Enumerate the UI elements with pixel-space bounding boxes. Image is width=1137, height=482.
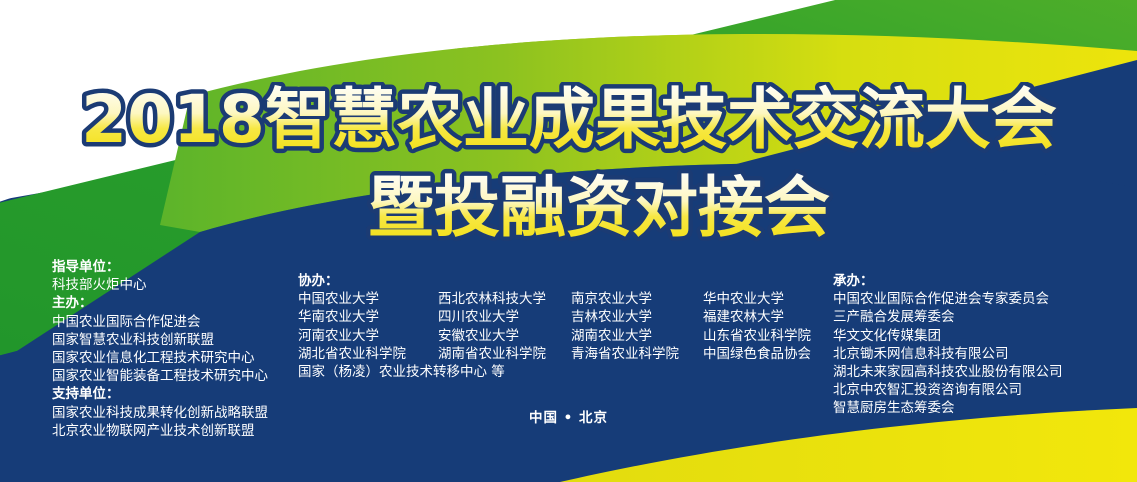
coorganizer-item: 湖南省农业科学院 (438, 345, 571, 363)
event-banner: 2018智慧农业成果技术交流大会 2018智慧农业成果技术交流大会 暨投融资对接… (0, 0, 1137, 482)
guide-item: 科技部火炬中心 (52, 276, 268, 294)
coorganizer-item: 湖北省农业科学院 (298, 345, 438, 363)
supporter-heading: 支持单位： (52, 385, 268, 403)
host-item: 华文文化传媒集团 (833, 327, 1063, 345)
host-item: 中国农业国际合作促进会专家委员会 (833, 290, 1063, 308)
coorganizer-item: 河南农业大学 (298, 327, 438, 345)
coorganizer-item: 华中农业大学 (703, 290, 811, 308)
organizer-item: 国家农业信息化工程技术研究中心 (52, 349, 268, 367)
column-coorganizers: 协办： 中国农业大学 西北农林科技大学 南京农业大学 华中农业大学 华南农业大学… (298, 272, 811, 381)
coorganizer-item: 青海省农业科学院 (571, 345, 703, 363)
organizer-item: 国家农业智能装备工程技术研究中心 (52, 367, 268, 385)
coorganizer-item: 西北农林科技大学 (438, 290, 571, 308)
coorganizer-item: 四川农业大学 (438, 308, 571, 326)
coorganizer-item: 中国农业大学 (298, 290, 438, 308)
coorganizer-item: 华南农业大学 (298, 308, 438, 326)
coorganizer-item: 吉林农业大学 (571, 308, 703, 326)
coorganizer-heading: 协办： (298, 272, 811, 290)
organizer-heading: 主办： (52, 294, 268, 312)
host-item: 湖北未来家园高科技农业股份有限公司 (833, 363, 1063, 381)
event-location: 中国 • 北京 (0, 406, 1137, 426)
host-heading: 承办： (833, 272, 1063, 290)
coorganizer-item: 福建农林大学 (703, 308, 811, 326)
column-hosts: 承办： 中国农业国际合作促进会专家委员会 三产融合发展筹委会 华文文化传媒集团 … (833, 272, 1063, 418)
coorganizer-item: 山东省农业科学院 (703, 327, 811, 345)
host-item: 北京中农智汇投资咨询有限公司 (833, 381, 1063, 399)
coorganizer-item: 中国绿色食品协会 (703, 345, 811, 363)
coorganizer-last-line: 国家（杨凌）农业技术转移中心 等 (298, 363, 811, 381)
coorganizer-item: 湖南农业大学 (571, 327, 703, 345)
guide-heading: 指导单位： (52, 258, 268, 276)
coorganizer-item: 安徽农业大学 (438, 327, 571, 345)
coorganizer-item: 南京农业大学 (571, 290, 703, 308)
host-item: 北京锄禾网信息科技有限公司 (833, 345, 1063, 363)
host-item: 三产融合发展筹委会 (833, 308, 1063, 326)
organizer-item: 中国农业国际合作促进会 (52, 313, 268, 331)
organizer-item: 国家智慧农业科技创新联盟 (52, 331, 268, 349)
coorganizer-grid: 中国农业大学 西北农林科技大学 南京农业大学 华中农业大学 华南农业大学 四川农… (298, 290, 811, 381)
